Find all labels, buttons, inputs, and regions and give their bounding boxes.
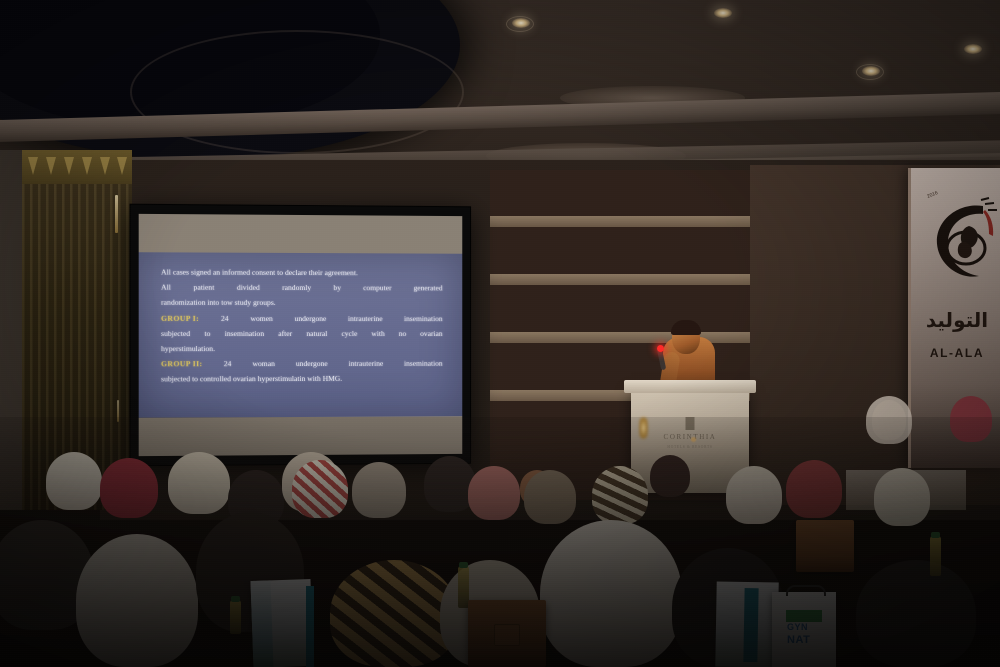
attendee-headscarf-front	[540, 520, 682, 667]
screen-letterbox-top	[139, 214, 463, 254]
curtain-valance	[22, 150, 132, 184]
brochure-teal-edge	[306, 586, 314, 667]
slide-group1-line-1: GROUP I: 24 women undergone intrauterine…	[161, 310, 443, 325]
attendee-headscarf	[352, 462, 406, 518]
ceiling-spotlight-ring	[506, 16, 534, 32]
slide-line-2: All patient divided randomly by computer…	[161, 280, 443, 296]
leather-bag	[468, 600, 546, 667]
curtain-light-gap	[117, 400, 119, 422]
slide-line-1: All cases signed an informed consent to …	[161, 264, 443, 280]
product-brochure	[715, 581, 778, 667]
projection-screen: All cases signed an informed consent to …	[130, 204, 472, 467]
slide-group1-line-2: subjected to insemination after natural …	[161, 326, 443, 341]
ceiling-spotlight-ring	[856, 64, 884, 80]
water-bottle	[230, 600, 241, 634]
podium-top-surface	[624, 380, 756, 393]
bag-logo-mark	[786, 610, 822, 622]
bottle-cap	[459, 562, 468, 568]
attendee-headscarf	[46, 452, 102, 510]
podium-brand-sublabel: HOTELS & RESORTS	[631, 445, 749, 449]
attendee-headscarf	[874, 468, 930, 526]
attendee-headscarf	[168, 452, 230, 514]
attendee-headscarf-front	[856, 560, 976, 667]
slide-group2-line-2: subjected to controlled ovarian hypersti…	[161, 371, 443, 387]
podium-crest-icon	[686, 417, 695, 430]
screen-letterbox-bottom	[139, 416, 463, 456]
bag-logo-text-1: GYN	[787, 622, 808, 632]
attendee-headscarf	[524, 470, 576, 524]
ceiling-spotlight-icon	[714, 8, 732, 18]
water-bottle	[930, 536, 941, 576]
slide-line-3: randomization into tow study groups.	[161, 295, 443, 311]
attendee-headscarf	[866, 396, 912, 444]
slide-group1-label: GROUP I:	[161, 310, 199, 325]
bag-logo-text-2: NAT	[787, 634, 810, 646]
attendee-headscarf-patterned	[592, 466, 648, 524]
podium-brand-label: CORINTHIA	[631, 433, 749, 441]
brochure-teal-band	[743, 588, 758, 662]
attendee-headscarf-patterned	[292, 460, 348, 518]
slide-group1-line-3: hyperstimulation.	[161, 341, 443, 356]
attendee-headscarf	[468, 466, 520, 520]
attendee-headscarf-front	[76, 534, 198, 667]
attendee-head	[650, 455, 690, 497]
attendee-headscarf	[100, 458, 158, 518]
brochure-side-strip	[251, 580, 274, 667]
bottle-cap	[931, 532, 940, 538]
conference-hall-photo: All cases signed an informed consent to …	[0, 0, 1000, 667]
curtain-light-gap	[115, 195, 118, 233]
bag-handle	[786, 585, 826, 596]
podium-reading-lamp	[639, 417, 648, 439]
slide-content: All cases signed an informed consent to …	[139, 252, 463, 418]
attendee-headscarf	[786, 460, 842, 518]
attendee-headscarf	[950, 396, 992, 442]
leather-handbag	[796, 520, 854, 572]
promotional-bag: GYN NAT	[772, 592, 836, 667]
attendee-headscarf	[726, 466, 782, 524]
bottle-cap	[231, 596, 240, 602]
product-brochure	[251, 579, 314, 667]
projection-screen-surface: All cases signed an informed consent to …	[139, 214, 463, 456]
leather-bag-clasp	[494, 624, 520, 646]
microphone-led-indicator	[657, 345, 664, 352]
ceiling-spotlight-icon	[964, 44, 982, 54]
attendee-headscarf-leopard	[330, 560, 458, 667]
podium-light-reflection	[691, 437, 696, 442]
slide-group2-label: GROUP II:	[161, 356, 202, 371]
speaker-hair	[671, 320, 701, 335]
slide-group2-line-1: GROUP II: 24 woman undergone intrauterin…	[161, 356, 443, 372]
